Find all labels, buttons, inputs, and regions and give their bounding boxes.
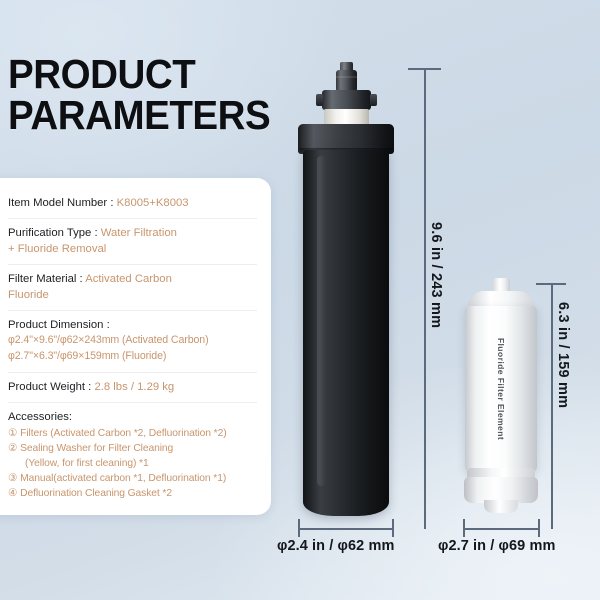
- accessory-item-4: ④ Defluorination Cleaning Gasket *2: [8, 486, 257, 501]
- page-title-line-1: PRODUCT: [8, 51, 195, 97]
- accessory-text-2: Sealing Washer for Filter Cleaning: [20, 441, 173, 456]
- fluoride-height-label: 6.3 in / 159 mm: [555, 302, 571, 408]
- fluoride-diameter-tick-left: [463, 519, 465, 537]
- spec-value-filter-material-line-2: Fluoride: [8, 287, 257, 303]
- fluoride-filter-product-image: Fluoride Filter Element: [460, 278, 542, 520]
- fluoride-diameter-line: [463, 528, 539, 530]
- fluoride-diameter-label: φ2.7 in / φ69 mm: [438, 538, 555, 554]
- spec-card: Item Model Number : K8005+K8003 Purifica…: [0, 178, 271, 515]
- spec-value-purification-type-line-2: + Fluoride Removal: [8, 241, 257, 257]
- fluoride-filter-body: Fluoride Filter Element: [465, 306, 537, 472]
- spec-value-dimension-carbon: φ2.4"×9.6"/φ62×243mm (Activated Carbon): [8, 333, 257, 349]
- accessory-text-1: Filters (Activated Carbon *2, Defluorina…: [20, 426, 226, 441]
- accessory-item-1: ① Filters (Activated Carbon *2, Defluori…: [8, 426, 257, 441]
- fluoride-height-line: [551, 283, 553, 529]
- spec-row-filter-material: Filter Material : Activated Carbon Fluor…: [8, 265, 257, 311]
- fluoride-diameter-tick-right: [538, 519, 540, 537]
- carbon-filter-collar-nut: [322, 90, 371, 110]
- spec-label-product-dimension: Product Dimension :: [8, 317, 257, 333]
- accessory-item-2: ② Sealing Washer for Filter Cleaning: [8, 441, 257, 456]
- carbon-diameter-line: [298, 528, 393, 530]
- carbon-height-line: [424, 68, 426, 529]
- spec-label-product-weight: Product Weight : 2.8 lbs / 1.29 kg: [8, 379, 257, 395]
- spec-label-purification-type: Purification Type : Water Filtration: [8, 225, 257, 241]
- spec-value-model-number: K8005+K8003: [117, 197, 189, 209]
- carbon-diameter-tick-left: [298, 519, 300, 537]
- spec-label-filter-material: Filter Material : Activated Carbon: [8, 271, 257, 287]
- carbon-height-label: 9.6 in / 243 mm: [428, 222, 444, 328]
- accessories-title: Accessories:: [8, 409, 257, 426]
- accessory-number-4: ④: [8, 486, 17, 501]
- page-title-line-2: PARAMETERS: [8, 95, 262, 136]
- carbon-filter-body: [303, 150, 389, 516]
- spec-value-dimension-fluoride: φ2.7"×6.3"/φ69×159mm (Fluoride): [8, 349, 257, 365]
- accessory-number-1: ①: [8, 426, 17, 441]
- fluoride-filter-body-text: Fluoride Filter Element: [496, 338, 506, 440]
- spec-row-product-weight: Product Weight : 2.8 lbs / 1.29 kg: [8, 373, 257, 403]
- spec-value-product-weight: 2.8 lbs / 1.29 kg: [94, 381, 174, 393]
- accessory-number-3: ③: [8, 471, 17, 486]
- spec-row-model-number: Item Model Number : K8005+K8003: [8, 189, 257, 219]
- carbon-filter-nozzle: [336, 70, 357, 92]
- spec-label-model-number: Item Model Number : K8005+K8003: [8, 195, 257, 211]
- spec-row-accessories: Accessories: ① Filters (Activated Carbon…: [8, 403, 257, 503]
- fluoride-filter-foot: [484, 500, 518, 513]
- accessory-text-2-sub: (Yellow, for first cleaning) *1: [8, 456, 257, 471]
- accessory-text-3: Manual(activated carbon *1, Defluorinati…: [20, 471, 226, 486]
- carbon-diameter-label: φ2.4 in / φ62 mm: [277, 538, 394, 554]
- page-title: PRODUCT PARAMETERS: [8, 54, 262, 135]
- carbon-diameter-tick-right: [392, 519, 394, 537]
- carbon-filter-product-image: [292, 62, 400, 520]
- product-parameters-infographic: PRODUCT PARAMETERS Item Model Number : K…: [0, 0, 600, 600]
- accessory-number-2: ②: [8, 441, 17, 456]
- spec-row-purification-type: Purification Type : Water Filtration + F…: [8, 219, 257, 265]
- spec-row-product-dimension: Product Dimension : φ2.4"×9.6"/φ62×243mm…: [8, 311, 257, 372]
- accessory-text-4: Defluorination Cleaning Gasket *2: [20, 486, 172, 501]
- spec-value-filter-material: Activated Carbon: [85, 273, 172, 285]
- spec-value-purification-type: Water Filtration: [101, 227, 177, 239]
- accessory-item-3: ③ Manual(activated carbon *1, Defluorina…: [8, 471, 257, 486]
